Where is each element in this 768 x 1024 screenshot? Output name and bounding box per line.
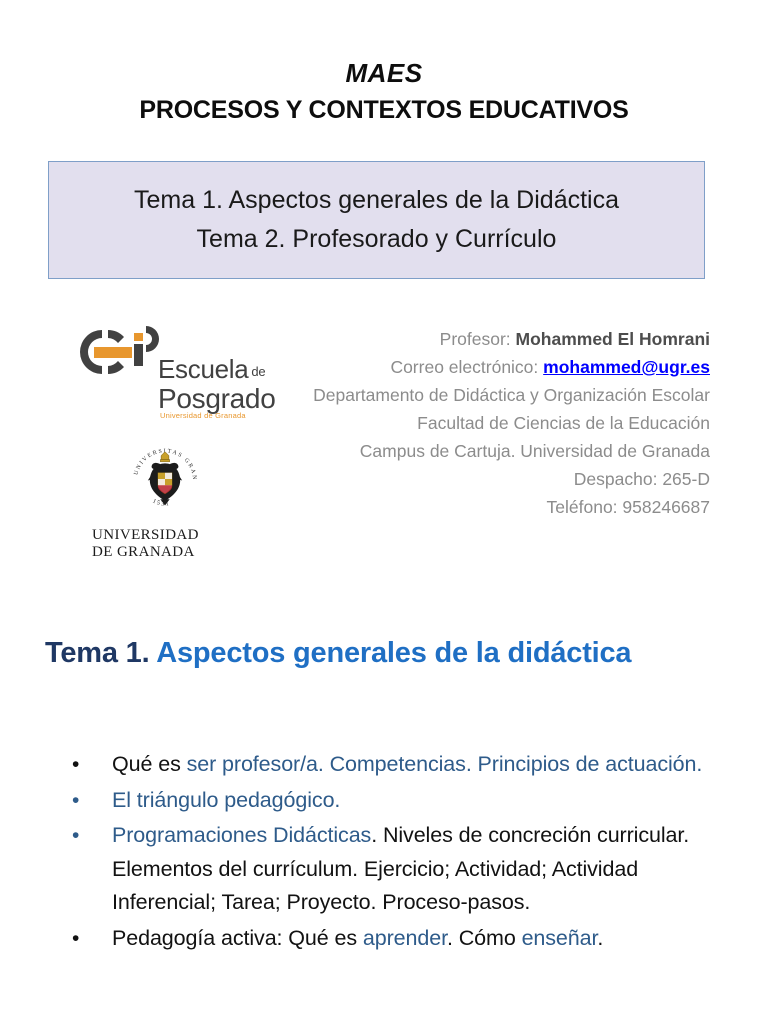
contact-email-link[interactable]: mohammed@ugr.es	[543, 357, 710, 377]
ugr-wordmark-line2: DE GRANADA	[92, 544, 240, 561]
bullet-marker-icon: •	[66, 922, 112, 955]
topic-line-1: Tema 1. Aspectos generales de la Didácti…	[134, 181, 619, 220]
list-item-text-part: Qué es	[112, 752, 187, 776]
contact-professor: Profesor: Mohammed El Homrani	[250, 325, 710, 353]
universidad-granada-logo: UNIVERSITAS GRANATENSIS 1531	[90, 440, 240, 561]
contact-professor-label: Profesor:	[440, 329, 516, 349]
list-item: •Qué es ser profesor/a. Competencias. Pr…	[66, 748, 716, 782]
list-item-text-part: El triángulo pedagógico.	[112, 788, 340, 812]
list-item-text: Qué es ser profesor/a. Competencias. Pri…	[112, 748, 716, 782]
section-heading-prefix: Tema 1.	[45, 637, 156, 669]
list-item: •El triángulo pedagógico.	[66, 784, 716, 818]
list-item: •Programaciones Didácticas. Niveles de c…	[66, 819, 716, 920]
contact-department: Departamento de Didáctica y Organización…	[250, 381, 710, 409]
contact-email-label: Correo electrónico:	[390, 357, 543, 377]
contact-email-row: Correo electrónico: mohammed@ugr.es	[250, 353, 710, 381]
logo-group: Escuelade Posgrado Universidad de Granad…	[58, 322, 273, 412]
escuela-posgrado-logo: Escuelade Posgrado Universidad de Granad…	[58, 322, 263, 412]
list-item-text-part: ser profesor/a. Competencias. Principios…	[187, 752, 703, 776]
contact-professor-name: Mohammed El Homrani	[516, 329, 710, 349]
bullet-marker-icon: •	[66, 819, 112, 852]
contact-campus: Campus de Cartuja. Universidad de Granad…	[250, 437, 710, 465]
topic-line-2: Tema 2. Profesorado y Currículo	[197, 220, 557, 259]
list-item-text-part: Programaciones Didácticas	[112, 823, 371, 847]
list-item-text-part: Pedagogía activa: Qué es	[112, 926, 363, 950]
svg-text:1531: 1531	[151, 498, 170, 508]
contact-office: Despacho: 265-D	[250, 465, 710, 493]
program-title: MAES	[0, 56, 768, 90]
ugr-wordmark-line1: UNIVERSIDAD	[92, 527, 240, 544]
section-heading: Tema 1. Aspectos generales de la didácti…	[45, 634, 631, 672]
contact-faculty: Facultad de Ciencias de la Educación	[250, 409, 710, 437]
section-heading-title: Aspectos generales de la didáctica	[156, 637, 631, 669]
list-item-text: Programaciones Didácticas. Niveles de co…	[112, 819, 716, 920]
slide-header: MAES PROCESOS Y CONTEXTOS EDUCATIVOS	[0, 56, 768, 130]
ugr-wordmark: UNIVERSIDAD DE GRANADA	[90, 527, 240, 561]
list-item-text-part: enseñar	[522, 926, 598, 950]
list-item: •Pedagogía activa: Qué es aprender. Cómo…	[66, 922, 716, 956]
list-item-text-part: . Cómo	[447, 926, 522, 950]
bullet-marker-icon: •	[66, 748, 112, 781]
bullet-marker-icon: •	[66, 784, 112, 817]
list-item-text-part: aprender	[363, 926, 447, 950]
bullet-list: •Qué es ser profesor/a. Competencias. Pr…	[66, 748, 716, 957]
logo-word-escuela-text: Escuela	[158, 354, 248, 384]
list-item-text-part: .	[597, 926, 603, 950]
list-item-text: El triángulo pedagógico.	[112, 784, 716, 818]
ugr-crest-icon: UNIVERSITAS GRANATENSIS 1531	[126, 440, 204, 518]
topic-title-box: Tema 1. Aspectos generales de la Didácti…	[48, 161, 705, 279]
contact-block: Profesor: Mohammed El Homrani Correo ele…	[250, 325, 710, 521]
escuela-posgrado-mark-icon	[68, 322, 164, 382]
list-item-text: Pedagogía activa: Qué es aprender. Cómo …	[112, 922, 716, 956]
subject-title: PROCESOS Y CONTEXTOS EDUCATIVOS	[0, 90, 768, 130]
contact-phone: Teléfono: 958246687	[250, 493, 710, 521]
